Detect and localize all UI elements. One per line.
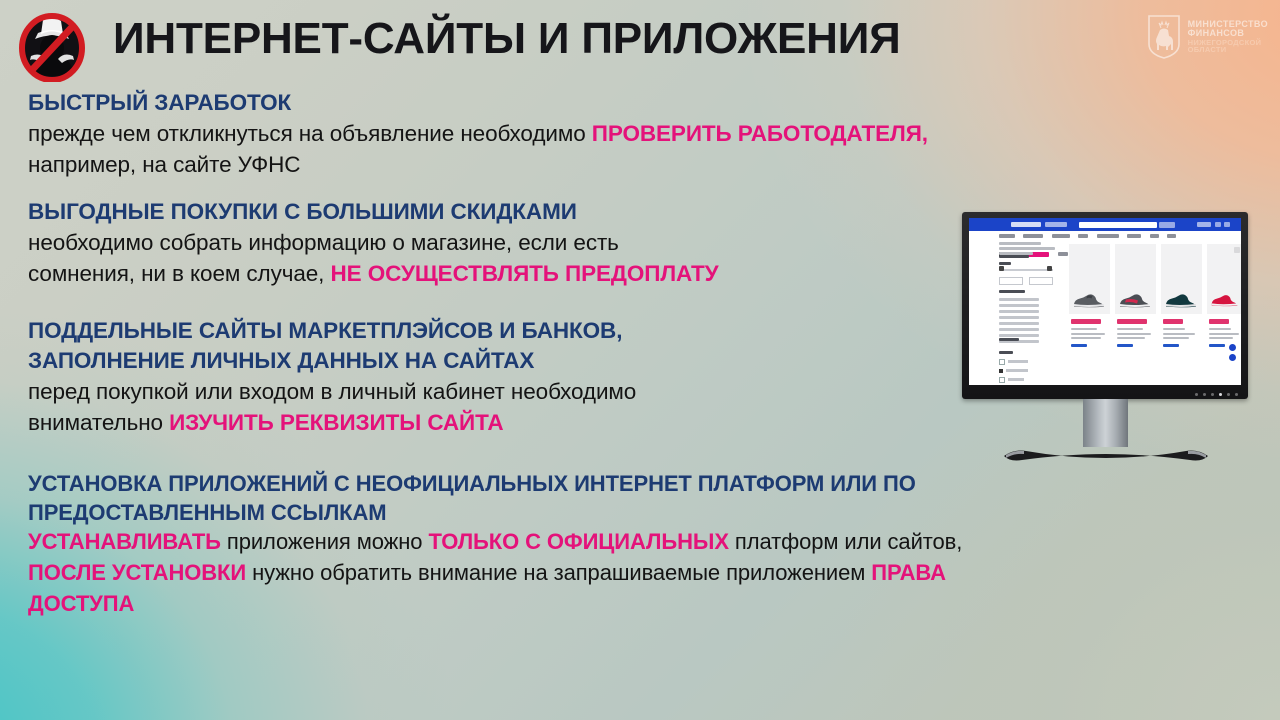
monitor-power-led-icon (1219, 393, 1222, 396)
nizhny-novgorod-deer-crest-icon (1147, 14, 1181, 60)
ministry-logo-text: МИНИСТЕРСТВО ФИНАНСОВ НИЖЕГОРОДСКОЙ ОБЛА… (1188, 20, 1268, 55)
price-range-slider[interactable] (999, 266, 1055, 274)
sneaker-image (1210, 291, 1240, 308)
results-count (999, 255, 1029, 261)
product-link[interactable] (1163, 344, 1179, 347)
product-link[interactable] (1071, 344, 1087, 347)
shop-cart-icon[interactable] (1224, 222, 1230, 227)
highlighted-text: НЕ ОСУЩЕСТВЛЯТЬ ПРЕДОПЛАТУ (330, 261, 718, 286)
nav-item[interactable] (1052, 234, 1070, 238)
nav-item[interactable] (1167, 234, 1176, 238)
product-card[interactable] (1115, 244, 1156, 314)
nav-item[interactable] (1078, 234, 1088, 238)
price-filter-label (999, 262, 1011, 267)
block-heading: БЫСТРЫЙ ЗАРАБОТОК (28, 88, 1258, 118)
nav-item[interactable] (1150, 234, 1159, 238)
product-card[interactable] (1207, 244, 1241, 314)
monitor-stand-base (998, 440, 1214, 462)
highlighted-text: ДОСТУПА (28, 591, 134, 616)
price-min-input[interactable] (999, 277, 1023, 285)
slide-header: ИНТЕРНЕТ-САЙТЫ И ПРИЛОЖЕНИЯ МИНИСТЕРСТВО… (0, 0, 1280, 88)
monitor-control-buttons[interactable] (1195, 393, 1238, 396)
highlighted-text: ПРОВЕРИТЬ РАБОТОДАТЕЛЯ, (592, 121, 928, 146)
block-line: ПОСЛЕ УСТАНОВКИ нужно обратить внимание … (28, 558, 1258, 589)
monitor-button-icon[interactable] (1211, 393, 1214, 396)
checkbox-label (1008, 360, 1028, 363)
text-run: внимательно (28, 410, 169, 435)
highlighted-text: ИЗУЧИТЬ РЕКВИЗИТЫ САЙТА (169, 410, 503, 435)
shop-search-button[interactable] (1159, 222, 1175, 228)
product-price (1071, 319, 1101, 324)
sneaker-image (1118, 291, 1153, 308)
filter-option[interactable] (999, 322, 1039, 325)
text-run: платформ или сайтов, (729, 529, 962, 554)
filter-option[interactable] (999, 310, 1039, 313)
shop-category-nav[interactable] (999, 234, 1199, 238)
advice-block-fast-earnings: БЫСТРЫЙ ЗАРАБОТОК прежде чем откликнутьс… (28, 88, 1258, 181)
checkbox[interactable] (999, 359, 1005, 365)
monitor-button-icon[interactable] (1203, 393, 1206, 396)
checkbox-label (1008, 378, 1024, 381)
block-line: прежде чем откликнуться на объявление не… (28, 118, 1258, 150)
text-run: например, на сайте УФНС (28, 152, 300, 177)
product-price (1117, 319, 1147, 324)
filter-option[interactable] (999, 334, 1039, 337)
checkbox-checked[interactable] (999, 369, 1003, 373)
desktop-monitor-illustration (962, 212, 1248, 462)
price-max-input[interactable] (1029, 277, 1053, 285)
filter-option[interactable] (999, 298, 1039, 301)
sneaker-image (1072, 291, 1107, 308)
block-heading: УСТАНОВКА ПРИЛОЖЕНИЙ С НЕОФИЦИАЛЬНЫХ ИНТ… (28, 469, 1258, 498)
nav-item[interactable] (1058, 252, 1068, 256)
product-card[interactable] (1161, 244, 1202, 314)
highlighted-text: ПРАВА (871, 560, 946, 585)
filter-option[interactable] (999, 304, 1039, 307)
ministry-logo-line4: ОБЛАСТИ (1188, 46, 1268, 54)
highlighted-text: УСТАНАВЛИВАТЬ (28, 529, 221, 554)
scroll-to-top-button[interactable] (1229, 354, 1236, 361)
sneaker-image (1164, 291, 1199, 308)
monitor-button-icon[interactable] (1227, 393, 1230, 396)
text-run: необходимо собрать информацию о магазине… (28, 230, 619, 255)
advice-block-app-installs: УСТАНОВКА ПРИЛОЖЕНИЙ С НЕОФИЦИАЛЬНЫХ ИНТ… (28, 469, 1258, 620)
filter-group-title-2 (999, 338, 1019, 344)
text-run: сомнения, ни в коем случае, (28, 261, 330, 286)
checkbox[interactable] (999, 377, 1005, 383)
slide-root: ИНТЕРНЕТ-САЙТЫ И ПРИЛОЖЕНИЯ МИНИСТЕРСТВО… (0, 0, 1280, 720)
monitor-button-icon[interactable] (1195, 393, 1198, 396)
nav-item[interactable] (999, 234, 1015, 238)
nav-item[interactable] (1097, 234, 1119, 238)
shop-logo-wordmark (1045, 222, 1067, 227)
shop-favourites-icon[interactable] (1215, 222, 1221, 227)
filter-group-title (999, 290, 1025, 293)
no-fraud-icon (17, 10, 87, 82)
ministry-logo: МИНИСТЕРСТВО ФИНАНСОВ НИЖЕГОРОДСКОЙ ОБЛА… (1147, 14, 1268, 60)
product-link[interactable] (1209, 344, 1225, 347)
product-card[interactable] (1069, 244, 1110, 314)
chat-support-button[interactable] (1229, 344, 1236, 351)
nav-item[interactable] (1023, 234, 1043, 238)
block-line: ДОСТУПА (28, 589, 1258, 620)
nav-item[interactable] (1127, 234, 1141, 238)
highlighted-text: ПОСЛЕ УСТАНОВКИ (28, 560, 246, 585)
shop-search-input[interactable] (1079, 222, 1157, 228)
text-run: прежде чем откликнуться на объявление не… (28, 121, 592, 146)
checkbox-label (1006, 369, 1028, 372)
highlighted-text: ТОЛЬКО С ОФИЦИАЛЬНЫХ (428, 529, 728, 554)
block-line: например, на сайте УФНС (28, 149, 1258, 181)
monitor-screen (969, 218, 1241, 385)
checkbox-filter-group[interactable] (999, 351, 1029, 385)
shop-account-link[interactable] (1197, 222, 1211, 227)
favourite-badge-icon[interactable] (1234, 247, 1240, 253)
text-run: перед покупкой или входом в личный кабин… (28, 379, 636, 404)
text-run: приложения можно (221, 529, 429, 554)
shop-logo (1011, 222, 1041, 227)
page-title: ИНТЕРНЕТ-САЙТЫ И ПРИЛОЖЕНИЯ (113, 14, 901, 64)
monitor-button-icon[interactable] (1235, 393, 1238, 396)
product-link[interactable] (1117, 344, 1133, 347)
text-run: нужно обратить внимание на запрашиваемые… (246, 560, 871, 585)
product-price (1209, 319, 1229, 324)
block-heading-second-line: ПРЕДОСТАВЛЕННЫМ ССЫЛКАМ (28, 498, 1258, 527)
product-price (1163, 319, 1183, 324)
filter-option[interactable] (999, 328, 1039, 331)
monitor-bezel (962, 212, 1248, 399)
block-line: УСТАНАВЛИВАТЬ приложения можно ТОЛЬКО С … (28, 527, 1258, 558)
filter-option[interactable] (999, 316, 1039, 319)
